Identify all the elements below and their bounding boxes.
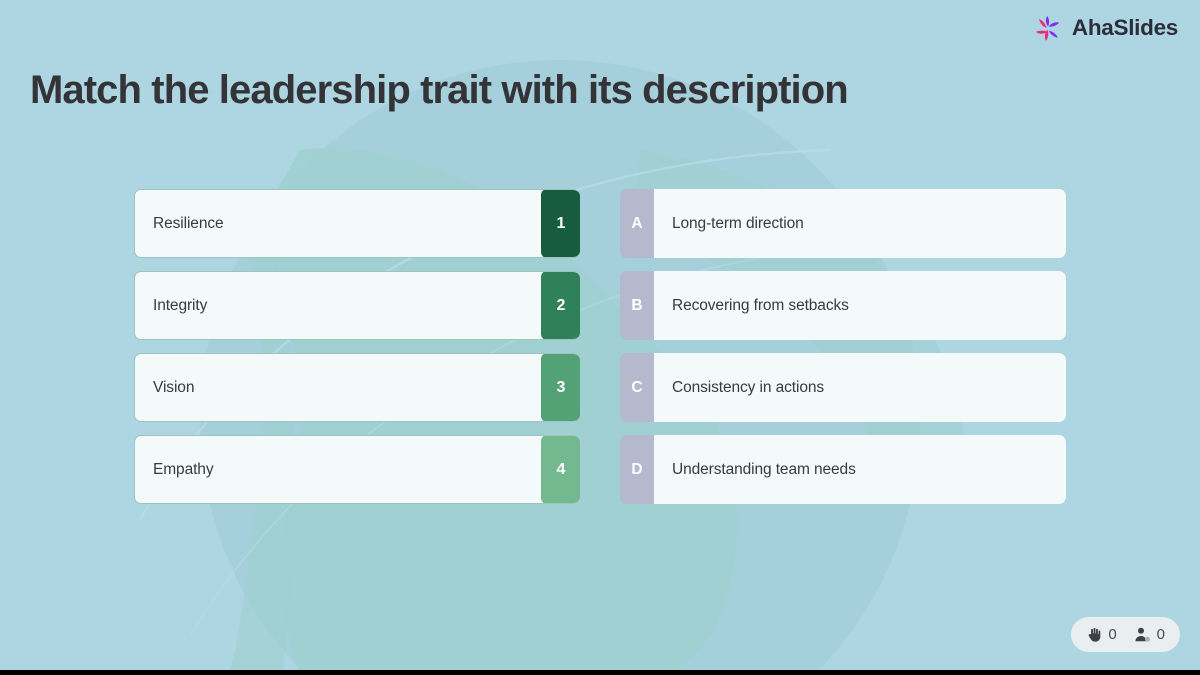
prompt-number-badge: 2 <box>541 271 580 340</box>
matching-board: Resilience 1 A Long-term direction Integ… <box>134 189 1066 504</box>
answer-card[interactable]: D Understanding team needs <box>620 435 1066 504</box>
prompt-label: Empathy <box>135 436 541 503</box>
answer-letter-badge: D <box>620 435 654 504</box>
brand-logo: AhaSlides <box>1033 13 1178 43</box>
raised-hand-icon <box>1086 626 1103 644</box>
prompt-card[interactable]: Integrity 2 <box>134 271 580 340</box>
brand-wordmark: AhaSlides <box>1072 15 1178 41</box>
prompt-card[interactable]: Vision 3 <box>134 353 580 422</box>
answer-label: Understanding team needs <box>654 435 1066 504</box>
answer-letter-badge: A <box>620 189 654 258</box>
answer-label: Recovering from setbacks <box>654 271 1066 340</box>
participants-stat[interactable]: 0 <box>1133 626 1165 644</box>
prompt-number-badge: 4 <box>541 435 580 504</box>
bottom-letterbox-bar <box>0 670 1200 675</box>
answer-letter-badge: C <box>620 353 654 422</box>
prompt-label: Vision <box>135 354 541 421</box>
prompt-label: Integrity <box>135 272 541 339</box>
answer-card[interactable]: A Long-term direction <box>620 189 1066 258</box>
page-title: Match the leadership trait with its desc… <box>30 66 1110 115</box>
prompt-number-badge: 1 <box>541 189 580 258</box>
pinwheel-icon <box>1033 13 1063 43</box>
prompt-card[interactable]: Empathy 4 <box>134 435 580 504</box>
answer-label: Long-term direction <box>654 189 1066 258</box>
person-icon <box>1133 626 1152 644</box>
raised-hands-count: 0 <box>1108 626 1116 643</box>
raised-hands-stat[interactable]: 0 <box>1086 626 1116 644</box>
answer-label: Consistency in actions <box>654 353 1066 422</box>
prompt-label: Resilience <box>135 190 541 257</box>
status-pill: 0 0 <box>1071 617 1180 652</box>
prompt-number-badge: 3 <box>541 353 580 422</box>
answer-letter-badge: B <box>620 271 654 340</box>
answer-card[interactable]: B Recovering from setbacks <box>620 271 1066 340</box>
participants-count: 0 <box>1157 626 1165 643</box>
prompt-card[interactable]: Resilience 1 <box>134 189 580 258</box>
answer-card[interactable]: C Consistency in actions <box>620 353 1066 422</box>
slide-canvas: AhaSlides Match the leadership trait wit… <box>0 0 1200 675</box>
